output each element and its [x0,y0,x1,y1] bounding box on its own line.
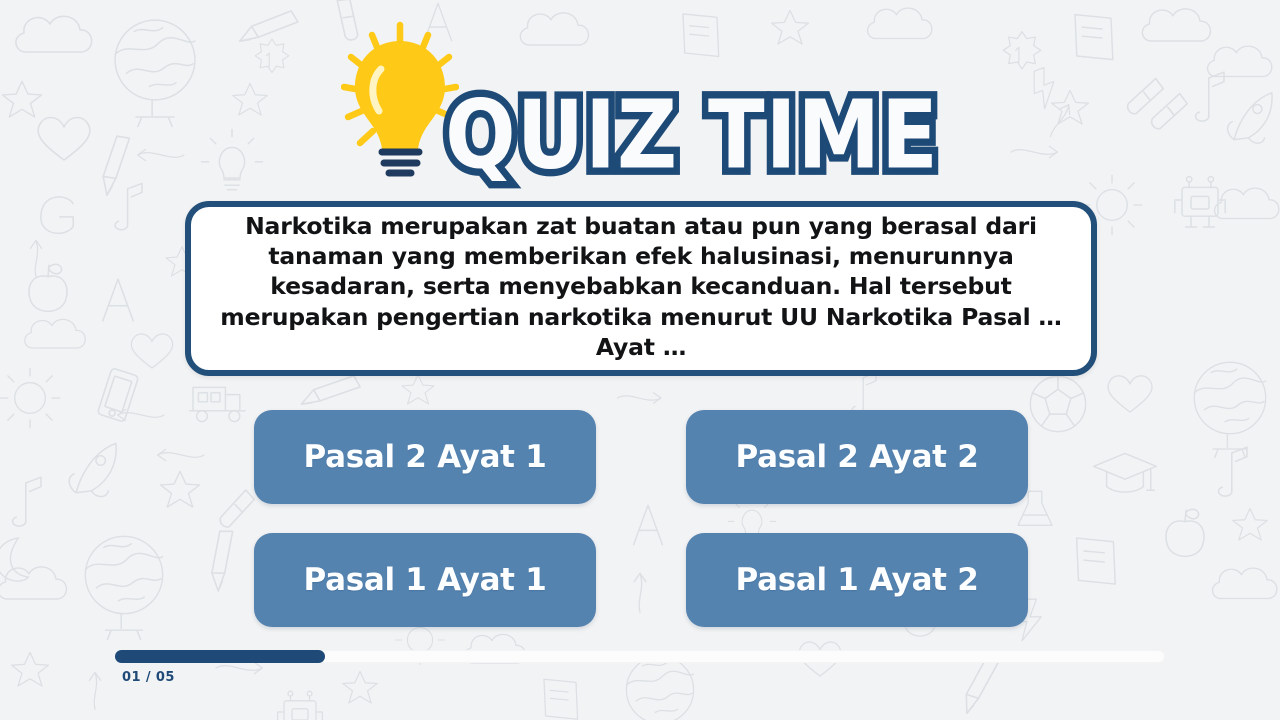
answer-option-d[interactable]: Pasal 1 Ayat 2 [686,533,1028,627]
progress-bar-track[interactable] [115,650,1165,663]
question-card: Narkotika merupakan zat buatan atau pun … [185,201,1097,376]
answer-option-c[interactable]: Pasal 1 Ayat 1 [254,533,596,627]
answer-options: Pasal 2 Ayat 1 Pasal 2 Ayat 2 Pasal 1 Ay… [254,410,1029,627]
slide-header: QUIZ TIME [0,18,1280,183]
progress-counter: 01 / 05 [122,670,1165,685]
question-text: Narkotika merupakan zat buatan atau pun … [213,211,1069,362]
progress-bar-fill [115,650,325,663]
page-title: QUIZ TIME [445,92,939,179]
progress-section: 01 / 05 [115,650,1165,685]
quiz-slide: QUIZ TIME Narkotika merupakan zat buatan… [0,0,1280,720]
answer-option-a[interactable]: Pasal 2 Ayat 1 [254,410,596,504]
answer-option-b[interactable]: Pasal 2 Ayat 2 [686,410,1028,504]
lightbulb-icon [341,21,459,181]
